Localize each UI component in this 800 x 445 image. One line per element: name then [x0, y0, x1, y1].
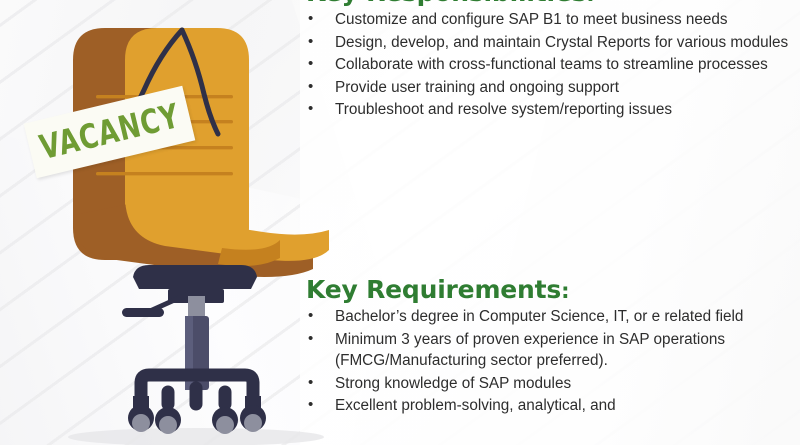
office-chair-illustration	[0, 0, 330, 445]
heading-key-requirements-text: Key Requirements	[306, 275, 561, 304]
chair-star-base	[141, 375, 253, 404]
list-item: Strong knowledge of SAP modules	[300, 373, 792, 395]
chair-seat-mechanism	[133, 265, 257, 289]
caster-1-wheel	[132, 414, 150, 432]
heading-key-requirements: Key Requirements:	[306, 277, 569, 303]
chair-height-lever	[122, 293, 190, 317]
job-description-content: Key Responsibilities: Customize and conf…	[300, 0, 800, 445]
chair-ground-shadow	[68, 428, 324, 445]
heading-key-responsibilities: Key Responsibilities:	[306, 0, 594, 6]
chair-gas-cylinder-top	[188, 296, 205, 318]
heading-key-requirements-colon: :	[561, 279, 569, 303]
caster-2-wheel	[159, 416, 177, 434]
responsibilities-list: Customize and configure SAP B1 to meet b…	[300, 9, 792, 122]
caster-4-wheel	[244, 414, 262, 432]
list-item: Provide user training and ongoing suppor…	[300, 77, 792, 99]
caster-3-wheel	[216, 416, 234, 434]
vacancy-poster: VACANCY Key Responsibilities: Customize …	[0, 0, 800, 445]
heading-key-responsibilities-colon: :	[586, 0, 594, 6]
list-item: Bachelor’s degree in Computer Science, I…	[300, 306, 792, 328]
heading-key-responsibilities-text: Key Responsibilities	[306, 0, 586, 7]
list-item: Excellent problem-solving, analytical, a…	[300, 395, 792, 417]
list-item: Collaborate with cross-functional teams …	[300, 54, 792, 76]
list-item: Minimum 3 years of proven experience in …	[300, 329, 792, 372]
list-item: Design, develop, and maintain Crystal Re…	[300, 32, 792, 54]
requirements-list: Bachelor’s degree in Computer Science, I…	[300, 306, 792, 418]
list-item: Troubleshoot and resolve system/reportin…	[300, 99, 792, 121]
list-item: Customize and configure SAP B1 to meet b…	[300, 9, 792, 31]
